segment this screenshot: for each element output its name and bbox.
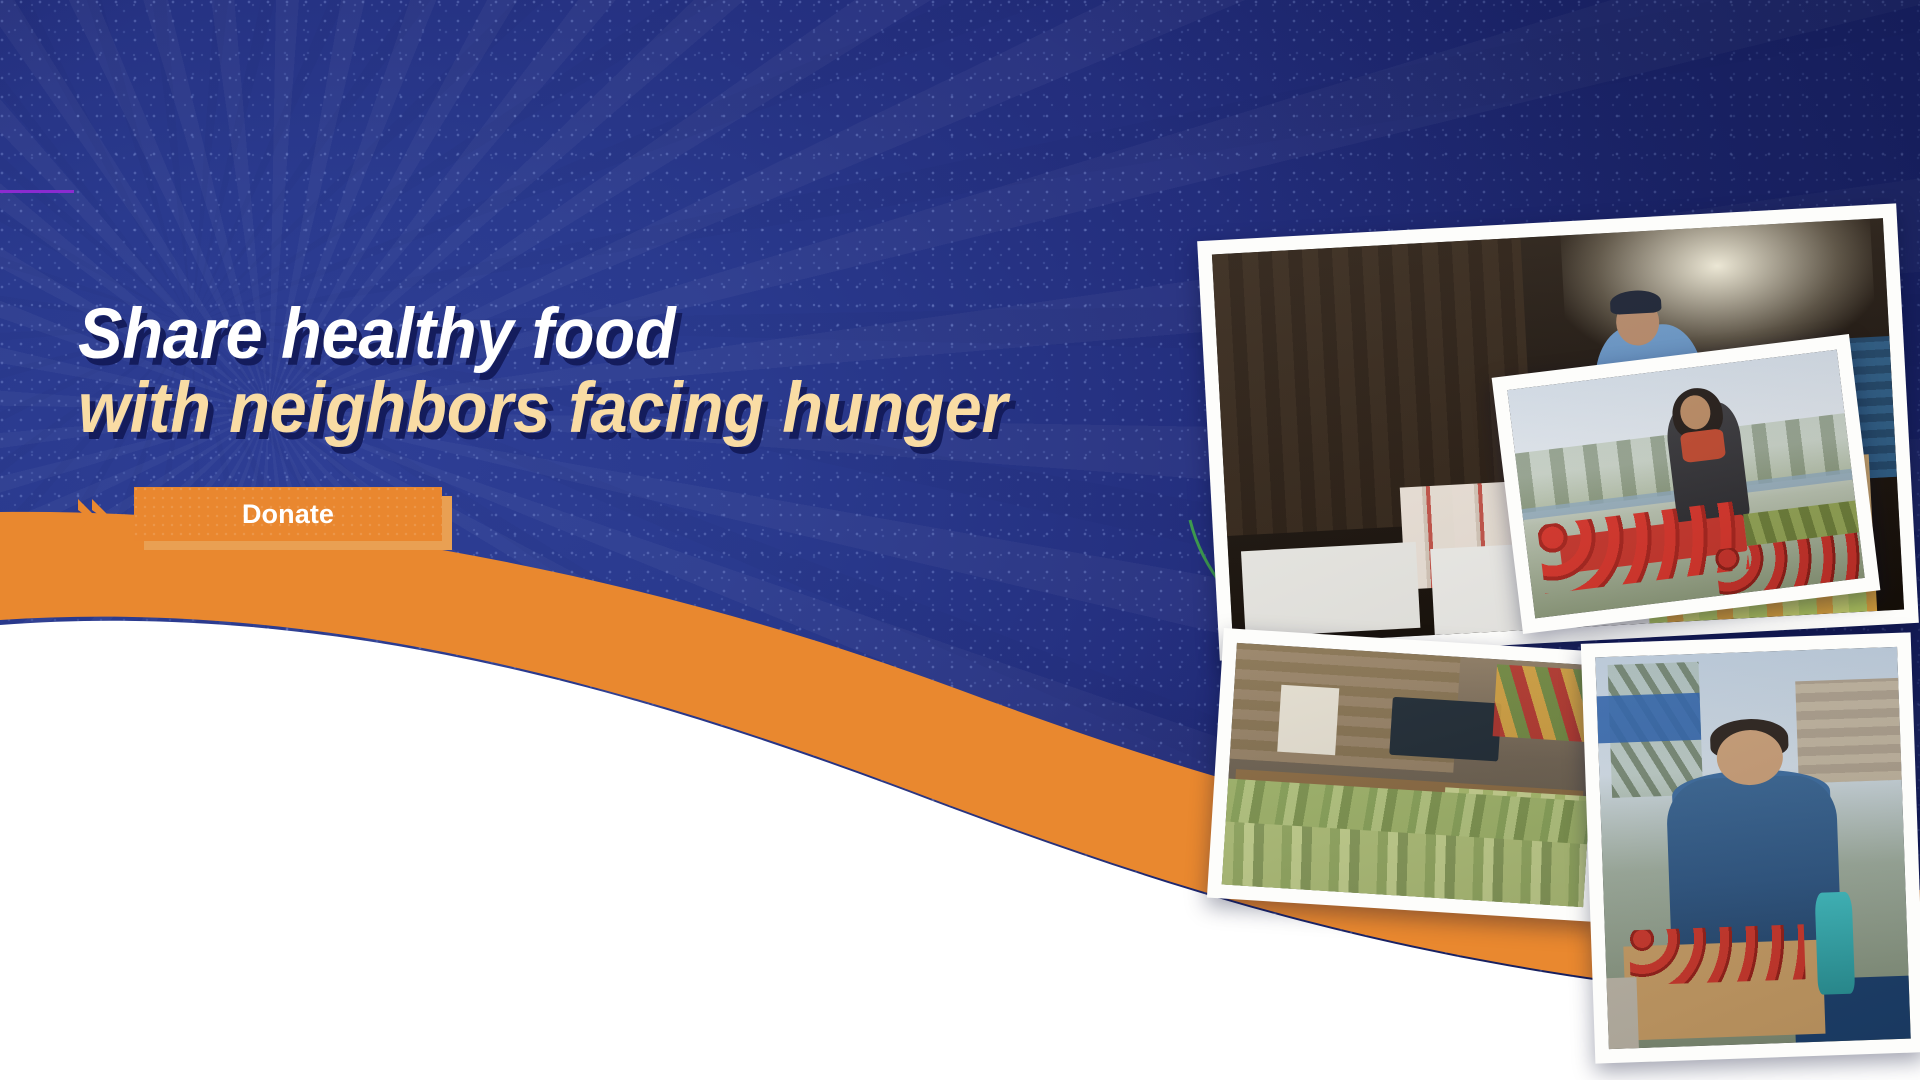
photo-volunteer-tomatoes-alt: Smiling volunteer in a blue hoodie packi… <box>1581 644 1582 645</box>
photo-volunteer-tomatoes[interactable]: Smiling volunteer in a blue hoodie packi… <box>1581 632 1920 1063</box>
headline-line-1: Share healthy food <box>78 300 1018 370</box>
photo-market-shopper-alt: Smiling woman selecting red bell peppers… <box>1492 378 1493 379</box>
purple-accent-rule <box>0 190 74 193</box>
photo-volunteer-tomatoes-image <box>1595 647 1910 1049</box>
double-chevron-right-icon <box>74 493 118 537</box>
photo-market-shopper-image <box>1507 350 1865 619</box>
donate-button[interactable]: Donate <box>134 487 442 541</box>
photo-zucchini-crates-image <box>1222 643 1598 907</box>
page-title: Share healthy food with neighbors facing… <box>78 300 1078 445</box>
photo-zucchini-crates[interactable]: Crates filled with fresh green zucchini … <box>1207 628 1613 922</box>
headline-line-2: with neighbors facing hunger <box>78 374 1018 444</box>
hero-banner: Share healthy food with neighbors facing… <box>0 0 1920 1080</box>
photo-zucchini-crates-alt: Crates filled with fresh green zucchini … <box>1224 628 1225 629</box>
photo-warehouse-volunteer-alt: Volunteer in a warehouse lifting a cardb… <box>1197 241 1198 242</box>
photo-market-shopper[interactable]: Smiling woman selecting red bell peppers… <box>1492 334 1881 634</box>
donate-button-wrap: Donate <box>134 487 442 543</box>
cta-row: Donate <box>74 487 442 543</box>
